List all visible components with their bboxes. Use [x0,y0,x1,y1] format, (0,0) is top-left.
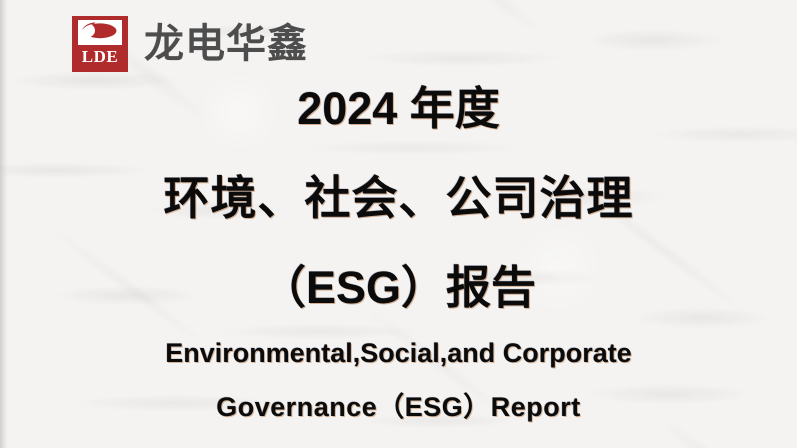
red-ellipse-swoosh-icon [81,21,119,45]
logo-mark: LDE [72,16,128,72]
cover-title-block: 2024 年度 环境、社会、公司治理 （ESG）报告 Environmental… [0,86,797,421]
company-logo-lockup: LDE 龙电华鑫 [72,16,308,72]
logo-abbreviation: LDE [82,48,118,65]
logo-mark-panel [78,20,122,45]
cover-subtitle-line-1: Environmental,Social,and Corporate [0,340,797,367]
report-cover-slide: LDE 龙电华鑫 2024 年度 环境、社会、公司治理 （ESG）报告 Envi… [0,0,797,448]
logo-wordmark: 龙电华鑫 [144,24,308,64]
cover-title-line-3: （ESG）报告 [0,265,797,310]
cover-title-line-1: 2024 年度 [0,86,797,131]
cover-subtitle-line-2: Governance（ESG）Report [0,394,797,421]
cover-title-line-2: 环境、社会、公司治理 [0,175,797,221]
